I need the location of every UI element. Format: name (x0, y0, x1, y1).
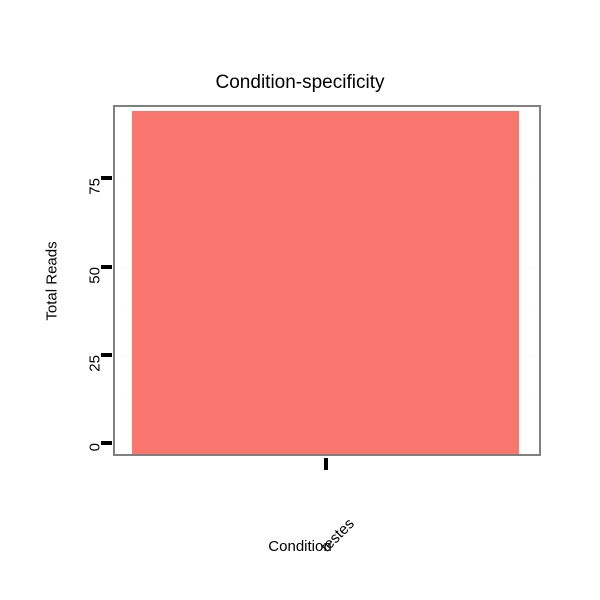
bar-chart: Condition-specificity 0 25 50 75 Total R… (0, 0, 600, 600)
y-axis-tick-label-0-text: 0 (88, 443, 103, 451)
y-axis-title: Total Reads (44, 241, 61, 320)
plot-panel (113, 105, 541, 456)
chart-title: Condition-specificity (0, 72, 600, 94)
y-axis-tick-label-75-text: 75 (88, 178, 103, 195)
x-axis-title: Condition (0, 538, 600, 556)
x-axis-tick-mark-testes (324, 458, 328, 470)
bar-testes (132, 111, 519, 454)
y-axis-tick-label-50-text: 50 (88, 267, 103, 284)
y-axis-tick-label-25-text: 25 (88, 355, 103, 372)
